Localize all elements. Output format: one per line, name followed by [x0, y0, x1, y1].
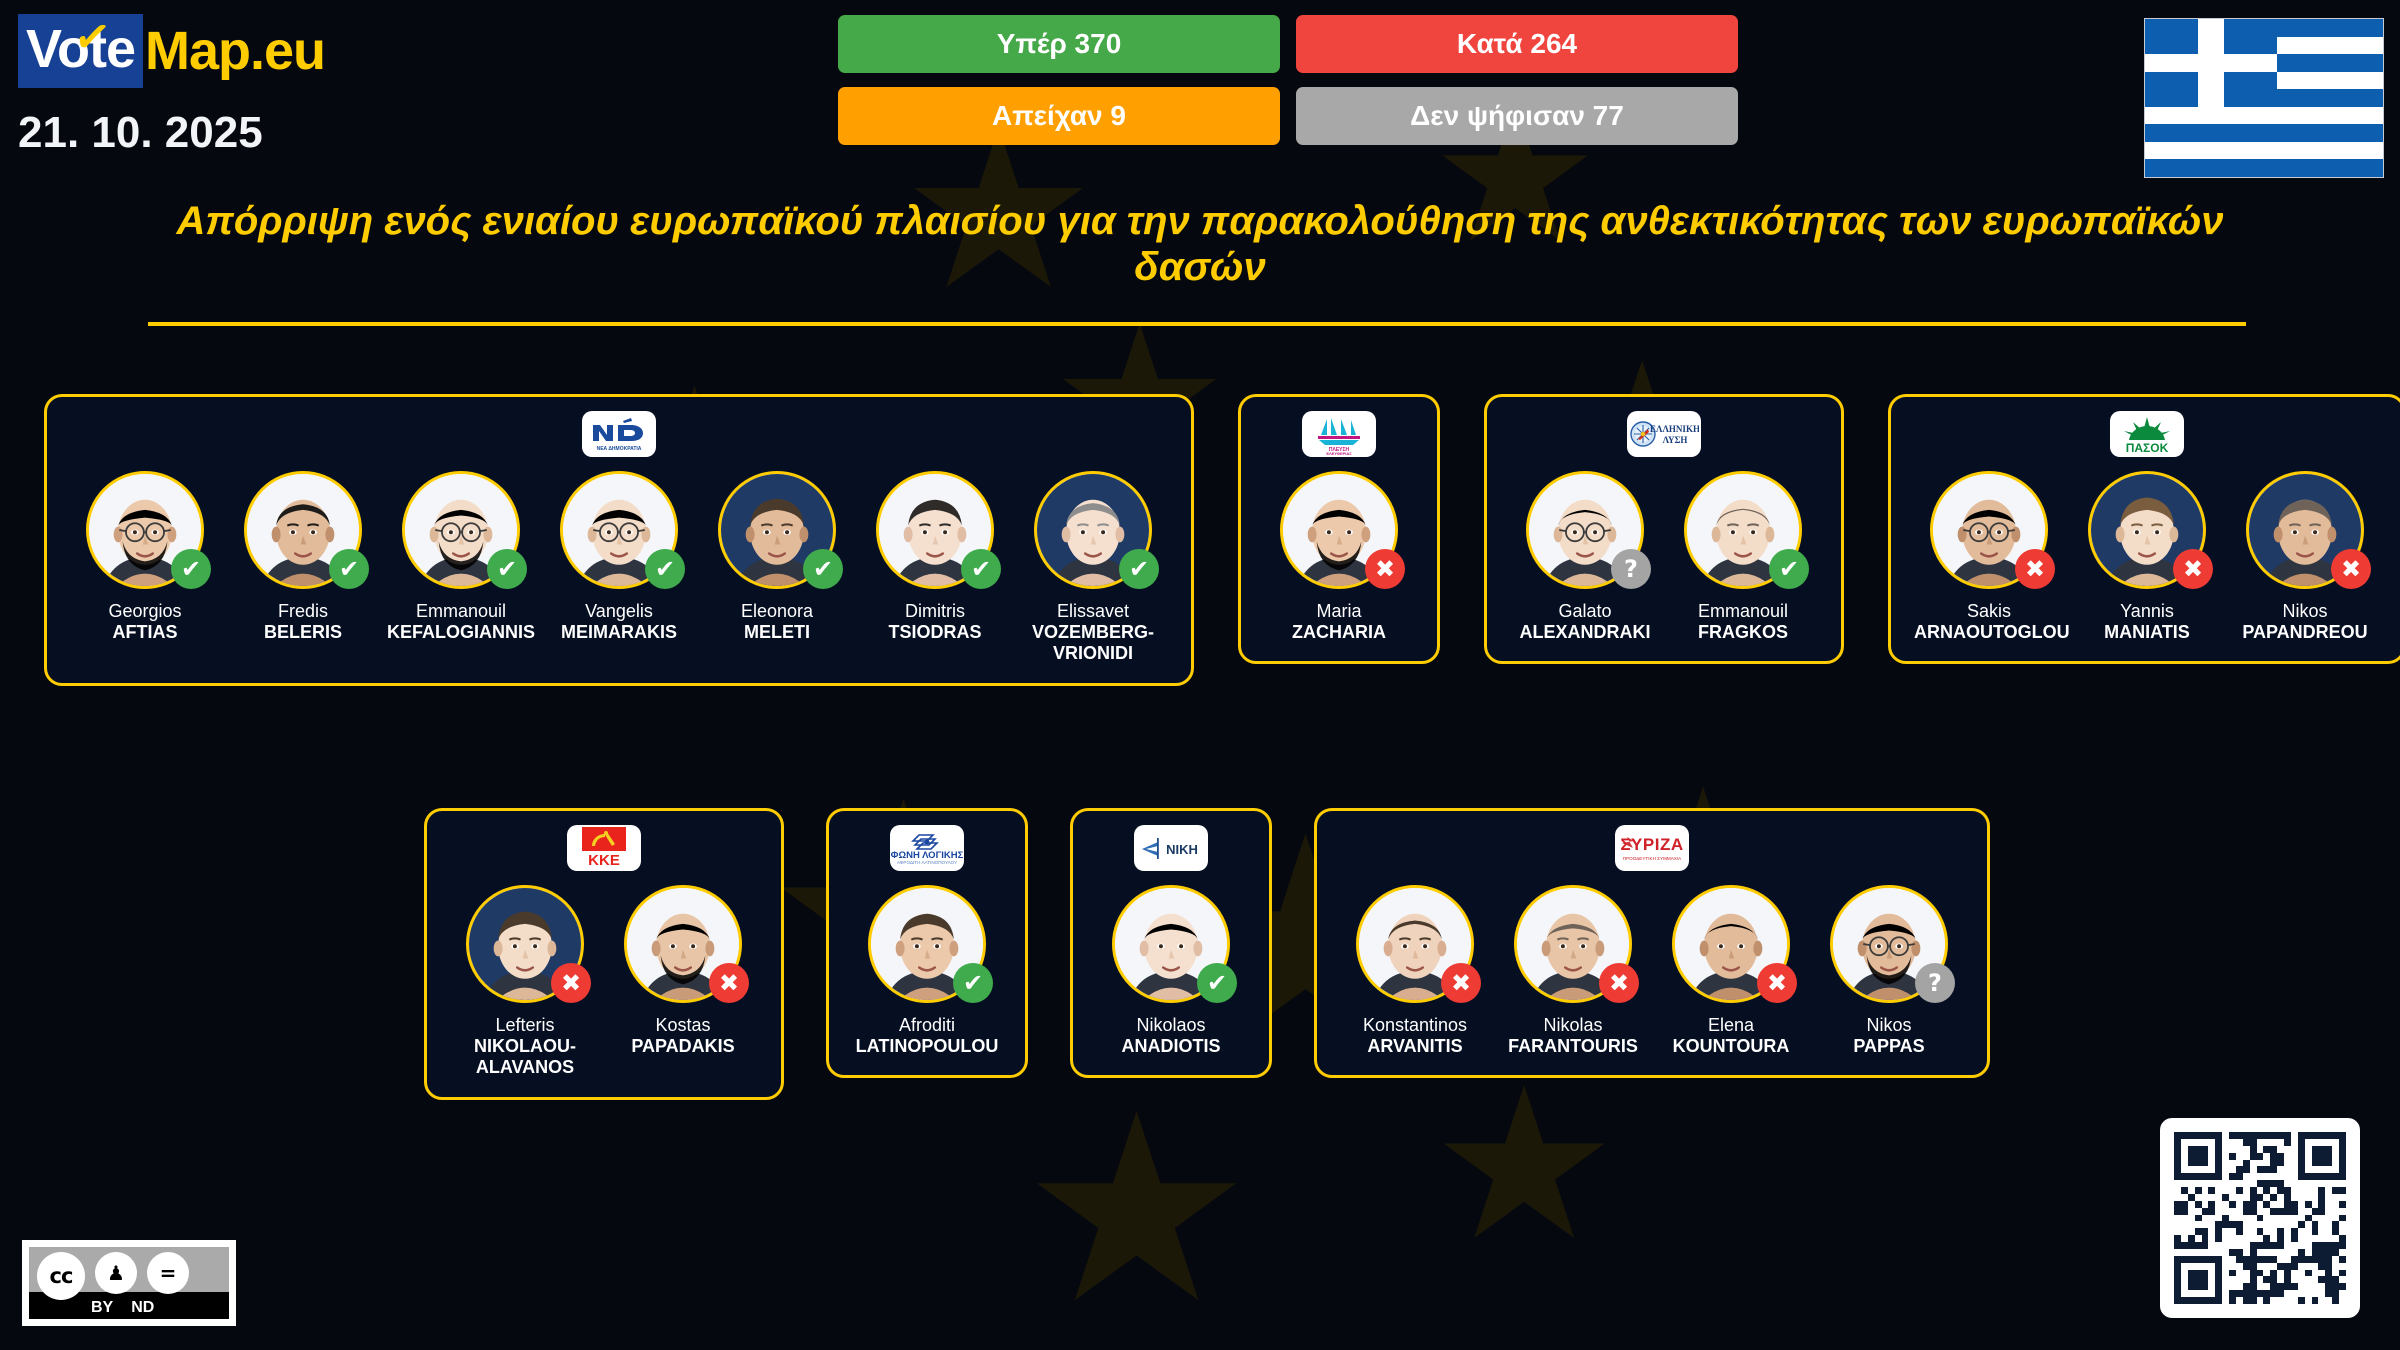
- vote-badge-novote: ?: [1611, 549, 1651, 589]
- mp-last-name: PAPPAS: [1814, 1036, 1964, 1057]
- mp-last-name: NIKOLAOU-ALAVANOS: [450, 1036, 600, 1078]
- plefsi-eleftherias-logo[interactable]: ΠΛΕΥΣΗ ΕΛΕΥΘΕΡΙΑΣ: [1302, 411, 1376, 457]
- mp-name: YannisMANIATIS: [2072, 601, 2222, 643]
- vote-badge-against: ✖: [709, 963, 749, 1003]
- party-group-card: ΝΕΑ ΔΗΜΟΚΡΑΤΙΑ ✔GeorgiosAFTIAS: [44, 394, 1194, 686]
- mp-name: KonstantinosARVANITIS: [1340, 1015, 1490, 1057]
- mp-card[interactable]: ✖KonstantinosARVANITIS: [1339, 885, 1491, 1057]
- mp-card[interactable]: ✖NikolasFARANTOURIS: [1497, 885, 1649, 1057]
- mp-photo-wrap: ✔: [868, 885, 986, 1003]
- svg-text:ΚΚΕ: ΚΚΕ: [588, 852, 620, 869]
- mp-name: GalatoALEXANDRAKI: [1510, 601, 1660, 643]
- party-group-card: ΝΙΚΗ ✔NikolaosANADIOTIS: [1070, 808, 1272, 1078]
- mp-photo-wrap: ✔: [876, 471, 994, 589]
- mp-photo-wrap: ✖: [466, 885, 584, 1003]
- mp-first-name: Dimitris: [905, 601, 965, 621]
- mp-last-name: KEFALOGIANNIS: [386, 622, 536, 643]
- mp-photo-wrap: ✖: [2246, 471, 2364, 589]
- title-divider: [148, 322, 2246, 326]
- party-groups-bottom-row: ΚΚΕ ✖LefterisNIKOLAOU-ALAVANOS: [424, 808, 1990, 1100]
- mp-first-name: Konstantinos: [1363, 1015, 1467, 1035]
- mp-card[interactable]: ✔AfroditiLATINOPOULOU: [851, 885, 1003, 1057]
- mp-card[interactable]: ✖MariaZACHARIA: [1263, 471, 1415, 643]
- mp-list: ✖KonstantinosARVANITIS ✖NikolasFARANTOUR…: [1339, 885, 1965, 1057]
- mp-list: ?GalatoALEXANDRAKI ✔EmmanouilFRAGKOS: [1509, 471, 1819, 643]
- party-group-card: ΦΩΝΗ ΛΟΓΙΚΗΣ ΑΦΡΟΔΙΤΗ ΛΑΤΙΝΟΠΟΥΛΟΥ ✔Afro…: [826, 808, 1028, 1078]
- mp-list: ✔GeorgiosAFTIAS ✔FredisBELERIS: [69, 471, 1169, 665]
- mp-first-name: Eleonora: [741, 601, 813, 621]
- mp-first-name: Maria: [1316, 601, 1361, 621]
- mp-first-name: Elissavet: [1057, 601, 1129, 621]
- mp-last-name: ZACHARIA: [1264, 622, 1414, 643]
- mp-name: AfroditiLATINOPOULOU: [852, 1015, 1002, 1057]
- mp-name: ElissavetVOZEMBERG-VRIONIDI: [1018, 601, 1168, 665]
- mp-name: EleonoraMELETI: [702, 601, 852, 643]
- mp-last-name: MELETI: [702, 622, 852, 643]
- mp-photo-wrap: ✔: [244, 471, 362, 589]
- vote-badge-against: ✖: [1599, 963, 1639, 1003]
- foni-logikis-logo[interactable]: ΦΩΝΗ ΛΟΓΙΚΗΣ ΑΦΡΟΔΙΤΗ ΛΑΤΙΝΟΠΟΥΛΟΥ: [890, 825, 964, 871]
- mp-card[interactable]: ✖NikosPAPANDREOU: [2229, 471, 2381, 643]
- mp-first-name: Emmanouil: [416, 601, 506, 621]
- vote-badge-for: ✔: [1769, 549, 1809, 589]
- person-icon: ♟: [95, 1252, 137, 1294]
- vote-badge-novote: ?: [1915, 963, 1955, 1003]
- mp-photo-wrap: ?: [1526, 471, 1644, 589]
- party-group-card: ΠΛΕΥΣΗ ΕΛΕΥΘΕΡΙΑΣ ✖MariaZACHARIA: [1238, 394, 1440, 664]
- vote-badge-against: ✖: [1365, 549, 1405, 589]
- kke-logo[interactable]: ΚΚΕ: [567, 825, 641, 871]
- mp-name: EmmanouilFRAGKOS: [1668, 601, 1818, 643]
- svg-text:ΕΛΛΗΝΙΚΗ: ΕΛΛΗΝΙΚΗ: [1650, 424, 1699, 434]
- mp-first-name: Afroditi: [899, 1015, 955, 1035]
- mp-list: ✖LefterisNIKOLAOU-ALAVANOS ✖KostasPAPADA…: [449, 885, 759, 1079]
- mp-last-name: MANIATIS: [2072, 622, 2222, 643]
- tally-novote[interactable]: Δεν ψήφισαν 77: [1296, 87, 1738, 145]
- svg-text:ΕΛΕΥΘΕΡΙΑΣ: ΕΛΕΥΘΕΡΙΑΣ: [1326, 451, 1352, 455]
- vote-badge-for: ✔: [171, 549, 211, 589]
- site-logo[interactable]: Vote ✓ Map.eu: [18, 14, 325, 88]
- mp-last-name: ALEXANDRAKI: [1510, 622, 1660, 643]
- mp-photo-wrap: ✔: [1112, 885, 1230, 1003]
- mp-name: FredisBELERIS: [228, 601, 378, 643]
- mp-card[interactable]: ✔NikolaosANADIOTIS: [1095, 885, 1247, 1057]
- mp-last-name: BELERIS: [228, 622, 378, 643]
- vote-badge-against: ✖: [2331, 549, 2371, 589]
- mp-name: NikolasFARANTOURIS: [1498, 1015, 1648, 1057]
- votemap-page: ★ ★ ★ ★ ★ ★ ★ ★ ★ ★ Vote ✓ Map.eu 21. 10…: [0, 0, 2400, 1350]
- mp-name: DimitrisTSIODRAS: [860, 601, 1010, 643]
- vote-badge-against: ✖: [551, 963, 591, 1003]
- mp-name: VangelisMEIMARAKIS: [544, 601, 694, 643]
- party-group-card: ΠΑΣΟΚ ✖SakisARNAOUTOGLOU: [1888, 394, 2400, 664]
- mp-first-name: Elena: [1708, 1015, 1754, 1035]
- mp-first-name: Nikos: [2282, 601, 2327, 621]
- mp-last-name: KOUNTOURA: [1656, 1036, 1806, 1057]
- mp-photo-wrap: ✖: [2088, 471, 2206, 589]
- mp-last-name: PAPADAKIS: [608, 1036, 758, 1057]
- vote-badge-against: ✖: [2015, 549, 2055, 589]
- mp-name: NikosPAPPAS: [1814, 1015, 1964, 1057]
- page-title: Απόρριψη ενός ενιαίου ευρωπαϊκού πλαισίο…: [120, 198, 2280, 290]
- mp-first-name: Lefteris: [495, 1015, 554, 1035]
- mp-first-name: Georgios: [108, 601, 181, 621]
- svg-text:ΝΙΚΗ: ΝΙΚΗ: [1166, 842, 1198, 857]
- mp-card[interactable]: ?NikosPAPPAS: [1813, 885, 1965, 1057]
- vote-tallies: Υπέρ 370 Κατά 264 Απείχαν 9 Δεν ψήφισαν …: [838, 15, 1738, 145]
- mp-last-name: AFTIAS: [70, 622, 220, 643]
- mp-photo-wrap: ✖: [1356, 885, 1474, 1003]
- tally-against[interactable]: Κατά 264: [1296, 15, 1738, 73]
- vote-badge-against: ✖: [2173, 549, 2213, 589]
- mp-last-name: FARANTOURIS: [1498, 1036, 1648, 1057]
- mp-name: SakisARNAOUTOGLOU: [1914, 601, 2064, 643]
- vote-badge-for: ✔: [953, 963, 993, 1003]
- vote-badge-for: ✔: [645, 549, 685, 589]
- vote-badge-for: ✔: [487, 549, 527, 589]
- vote-badge-for: ✔: [329, 549, 369, 589]
- mp-list: ✖MariaZACHARIA: [1263, 471, 1415, 643]
- vote-badge-for: ✔: [1119, 549, 1159, 589]
- mp-list: ✔NikolaosANADIOTIS: [1095, 885, 1247, 1057]
- svg-text:ΠΡΟΟΔΕΥΤΙΚΗ ΣΥΜΜΑΧΙΑ: ΠΡΟΟΔΕΥΤΙΚΗ ΣΥΜΜΑΧΙΑ: [1623, 856, 1682, 861]
- mp-list: ✔AfroditiLATINOPOULOU: [851, 885, 1003, 1057]
- mp-last-name: ARVANITIS: [1340, 1036, 1490, 1057]
- greek-flag-icon: [2144, 18, 2384, 178]
- cc-icon: cc: [37, 1252, 85, 1300]
- mp-name: MariaZACHARIA: [1264, 601, 1414, 643]
- mp-card[interactable]: ?GalatoALEXANDRAKI: [1509, 471, 1661, 643]
- mp-photo-wrap: ✔: [560, 471, 678, 589]
- mp-card[interactable]: ✖ElenaKOUNTOURA: [1655, 885, 1807, 1057]
- vote-date: 21. 10. 2025: [18, 108, 263, 158]
- mp-first-name: Sakis: [1967, 601, 2011, 621]
- mp-last-name: LATINOPOULOU: [852, 1036, 1002, 1057]
- mp-card[interactable]: ✔VangelisMEIMARAKIS: [543, 471, 695, 643]
- tally-for[interactable]: Υπέρ 370: [838, 15, 1280, 73]
- mp-photo-wrap: ✖: [1930, 471, 2048, 589]
- mp-name: NikolaosANADIOTIS: [1096, 1015, 1246, 1057]
- mp-last-name: ANADIOTIS: [1096, 1036, 1246, 1057]
- tally-abstain[interactable]: Απείχαν 9: [838, 87, 1280, 145]
- niki-logo[interactable]: ΝΙΚΗ: [1134, 825, 1208, 871]
- mp-card[interactable]: ✔EleonoraMELETI: [701, 471, 853, 643]
- mp-first-name: Nikolas: [1543, 1015, 1602, 1035]
- equals-icon: =: [147, 1252, 189, 1294]
- mp-photo-wrap: ?: [1830, 885, 1948, 1003]
- mp-last-name: MEIMARAKIS: [544, 622, 694, 643]
- mp-photo-wrap: ✔: [718, 471, 836, 589]
- mp-name: LefterisNIKOLAOU-ALAVANOS: [450, 1015, 600, 1079]
- mp-first-name: Nikolaos: [1136, 1015, 1205, 1035]
- mp-card[interactable]: ✔FredisBELERIS: [227, 471, 379, 643]
- vote-badge-against: ✖: [1441, 963, 1481, 1003]
- mp-photo-wrap: ✖: [1280, 471, 1398, 589]
- mp-first-name: Emmanouil: [1698, 601, 1788, 621]
- mp-card[interactable]: ✔GeorgiosAFTIAS: [69, 471, 221, 643]
- mp-last-name: VOZEMBERG-VRIONIDI: [1018, 622, 1168, 664]
- mp-last-name: TSIODRAS: [860, 622, 1010, 643]
- mp-last-name: PAPANDREOU: [2230, 622, 2380, 643]
- party-groups-top-row: ΝΕΑ ΔΗΜΟΚΡΑΤΙΑ ✔GeorgiosAFTIAS: [44, 394, 2400, 686]
- svg-text:ΛΥΣΗ: ΛΥΣΗ: [1663, 435, 1688, 445]
- cc-by-nd-license[interactable]: cc ♟ = BY ND: [22, 1240, 236, 1326]
- mp-name: KostasPAPADAKIS: [608, 1015, 758, 1057]
- logo-map-text: Map.eu: [143, 20, 325, 82]
- vote-badge-for: ✔: [803, 549, 843, 589]
- mp-photo-wrap: ✖: [1514, 885, 1632, 1003]
- mp-first-name: Yannis: [2120, 601, 2174, 621]
- mp-card[interactable]: ✔EmmanouilKEFALOGIANNIS: [385, 471, 537, 643]
- svg-text:ΠΑΣΟΚ: ΠΑΣΟΚ: [2126, 441, 2169, 454]
- mp-card[interactable]: ✔ElissavetVOZEMBERG-VRIONIDI: [1017, 471, 1169, 665]
- svg-text:ΑΦΡΟΔΙΤΗ ΛΑΤΙΝΟΠΟΥΛΟΥ: ΑΦΡΟΔΙΤΗ ΛΑΤΙΝΟΠΟΥΛΟΥ: [897, 860, 957, 865]
- mp-photo-wrap: ✔: [1034, 471, 1152, 589]
- mp-photo-wrap: ✔: [86, 471, 204, 589]
- check-icon: ✓: [71, 10, 115, 66]
- pasok-logo[interactable]: ΠΑΣΟΚ: [2110, 411, 2184, 457]
- mp-name: ElenaKOUNTOURA: [1656, 1015, 1806, 1057]
- cc-nd-label: ND: [131, 1299, 154, 1317]
- mp-photo-wrap: ✔: [402, 471, 520, 589]
- mp-first-name: Galato: [1558, 601, 1611, 621]
- mp-photo-wrap: ✖: [1672, 885, 1790, 1003]
- mp-last-name: FRAGKOS: [1668, 622, 1818, 643]
- mp-card[interactable]: ✔DimitrisTSIODRAS: [859, 471, 1011, 643]
- elliniki-lysi-logo[interactable]: ΕΛΛΗΝΙΚΗ ΛΥΣΗ: [1627, 411, 1701, 457]
- mp-card[interactable]: ✖KostasPAPADAKIS: [607, 885, 759, 1057]
- svg-text:ΝΕΑ ΔΗΜΟΚΡΑΤΙΑ: ΝΕΑ ΔΗΜΟΚΡΑΤΙΑ: [597, 446, 642, 452]
- mp-photo-wrap: ✖: [624, 885, 742, 1003]
- nea-dimokratia-logo[interactable]: ΝΕΑ ΔΗΜΟΚΡΑΤΙΑ: [582, 411, 656, 457]
- mp-last-name: ARNAOUTOGLOU: [1914, 622, 2064, 643]
- qr-code[interactable]: [2160, 1118, 2360, 1318]
- vote-badge-for: ✔: [1197, 963, 1237, 1003]
- mp-name: EmmanouilKEFALOGIANNIS: [386, 601, 536, 643]
- mp-first-name: Kostas: [655, 1015, 710, 1035]
- mp-first-name: Vangelis: [585, 601, 653, 621]
- syriza-logo[interactable]: ΣΥΡΙΖΑ ΠΡΟΟΔΕΥΤΙΚΗ ΣΥΜΜΑΧΙΑ: [1615, 825, 1689, 871]
- mp-card[interactable]: ✔EmmanouilFRAGKOS: [1667, 471, 1819, 643]
- mp-list: ✖SakisARNAOUTOGLOU ✖YannisMANIATIS: [1913, 471, 2381, 643]
- mp-photo-wrap: ✔: [1684, 471, 1802, 589]
- mp-name: GeorgiosAFTIAS: [70, 601, 220, 643]
- mp-card[interactable]: ✖LefterisNIKOLAOU-ALAVANOS: [449, 885, 601, 1079]
- mp-first-name: Nikos: [1866, 1015, 1911, 1035]
- mp-card[interactable]: ✖YannisMANIATIS: [2071, 471, 2223, 643]
- party-group-card: ΚΚΕ ✖LefterisNIKOLAOU-ALAVANOS: [424, 808, 784, 1100]
- party-group-card: ΕΛΛΗΝΙΚΗ ΛΥΣΗ ?GalatoALEXANDRAKI: [1484, 394, 1844, 664]
- vote-badge-for: ✔: [961, 549, 1001, 589]
- cc-by-label: BY: [91, 1299, 113, 1317]
- mp-name: NikosPAPANDREOU: [2230, 601, 2380, 643]
- mp-first-name: Fredis: [278, 601, 328, 621]
- mp-card[interactable]: ✖SakisARNAOUTOGLOU: [1913, 471, 2065, 643]
- party-group-card: ΣΥΡΙΖΑ ΠΡΟΟΔΕΥΤΙΚΗ ΣΥΜΜΑΧΙΑ ✖Konstantino…: [1314, 808, 1990, 1078]
- vote-badge-against: ✖: [1757, 963, 1797, 1003]
